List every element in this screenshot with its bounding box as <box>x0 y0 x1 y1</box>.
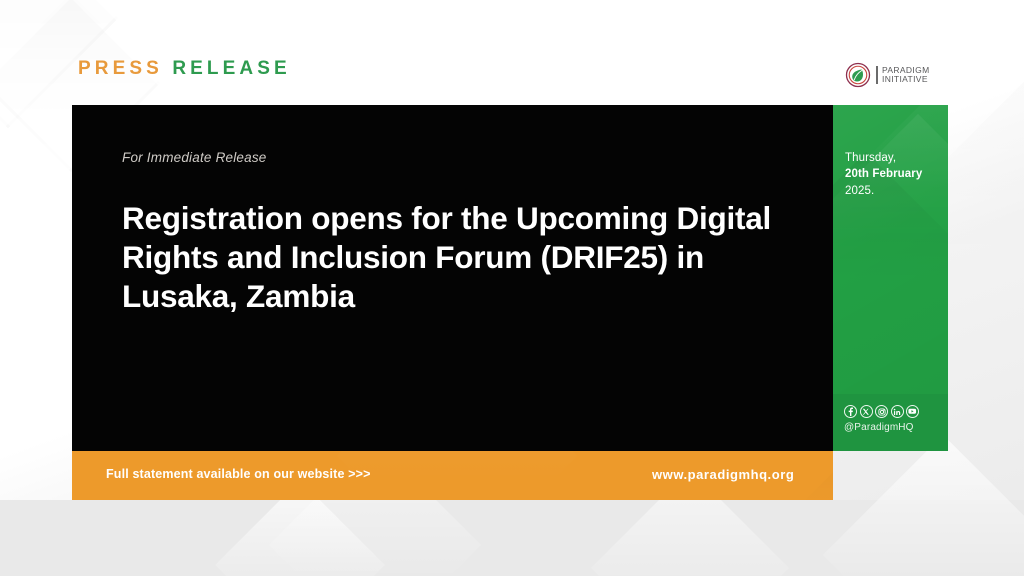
youtube-icon[interactable] <box>906 405 919 418</box>
date-side-panel: Thursday, 20th February 2025. <box>833 105 948 451</box>
paradigm-leaf-circle-icon <box>845 62 871 88</box>
footer-bar: Full statement available on our website … <box>72 451 833 500</box>
social-handle: @ParadigmHQ <box>844 422 914 433</box>
immediate-release-kicker: For Immediate Release <box>122 150 267 165</box>
press-release-graphic: PRESS RELEASE PARADIGM INITIATIVE For Im… <box>0 0 1024 576</box>
website-url[interactable]: www.paradigmhq.org <box>652 467 794 482</box>
release-date-date: 20th February <box>845 168 922 180</box>
chevron-watermark-icon <box>805 451 833 500</box>
announcement-card: For Immediate Release Registration opens… <box>72 105 833 451</box>
panel-social-footer: @ParadigmHQ <box>833 394 948 451</box>
headline-text: Registration opens for the Upcoming Digi… <box>122 199 782 317</box>
full-statement-cta[interactable]: Full statement available on our website … <box>106 467 371 481</box>
paradigm-initiative-logo: PARADIGM INITIATIVE <box>845 62 930 88</box>
release-date: Thursday, 20th February 2025. <box>845 150 922 199</box>
chevron-watermark-icon <box>337 451 577 500</box>
x-twitter-icon[interactable] <box>860 405 873 418</box>
instagram-icon[interactable] <box>875 405 888 418</box>
eyebrow-release-word: RELEASE <box>172 58 290 79</box>
eyebrow-press-word: PRESS <box>78 58 163 79</box>
release-date-day: Thursday, <box>845 152 896 164</box>
linkedin-icon[interactable] <box>891 405 904 418</box>
social-icon-row <box>844 405 919 418</box>
eyebrow-label: PRESS RELEASE <box>78 58 291 80</box>
facebook-icon[interactable] <box>844 405 857 418</box>
logo-line-2: INITIATIVE <box>882 75 930 84</box>
logo-wordmark: PARADIGM INITIATIVE <box>876 66 930 84</box>
release-date-year: 2025. <box>845 185 874 197</box>
